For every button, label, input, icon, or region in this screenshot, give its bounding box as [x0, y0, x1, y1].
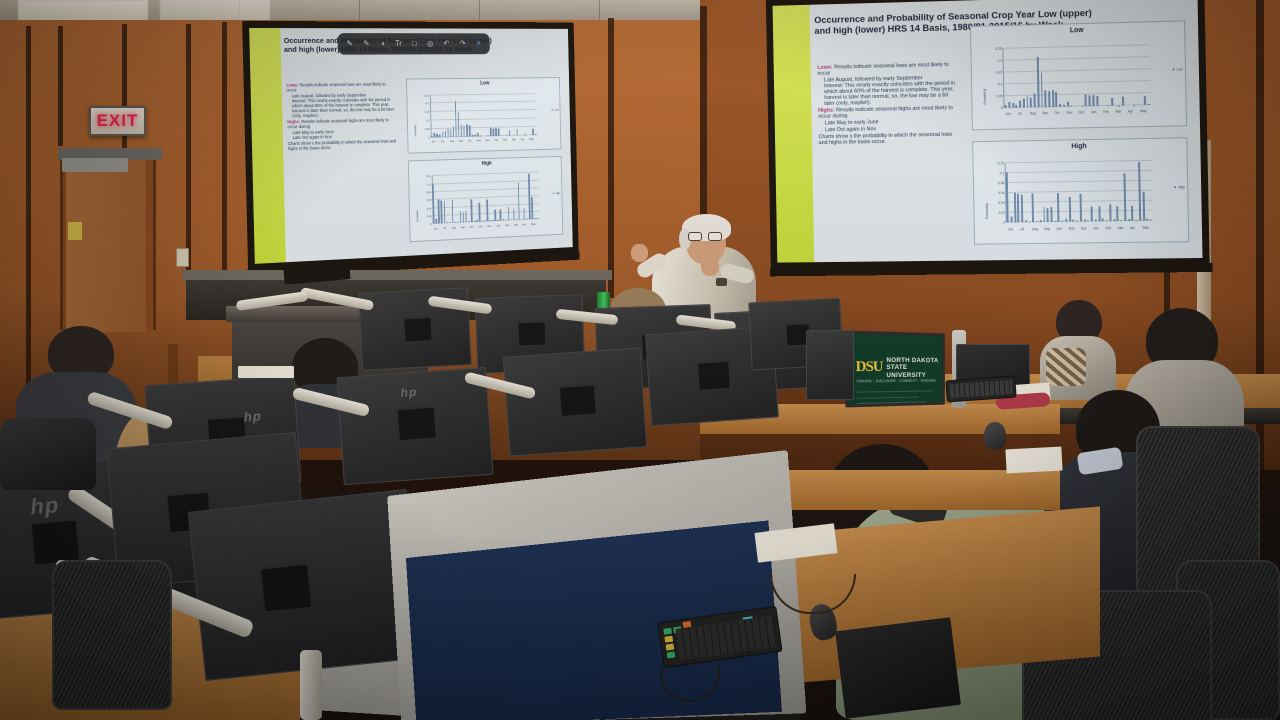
chart-x-tick-label: Apr — [1130, 225, 1135, 229]
chart-x-tick-label: Feb — [1105, 226, 1111, 230]
chart-bar — [476, 220, 477, 222]
door-braille-plate — [68, 222, 82, 240]
chart-y-tick-label: 0.05 — [996, 94, 1002, 98]
chart-bar — [431, 135, 432, 137]
chart-x-tick-label: Sep — [461, 226, 465, 229]
chart-bar — [1148, 104, 1150, 105]
glasses-icon — [688, 232, 702, 241]
chart-x-tick-label: Aug — [450, 140, 454, 143]
chart-y-tick-label: 0.02 — [427, 215, 432, 218]
chart-bar — [1025, 221, 1027, 223]
chart-bar — [1062, 221, 1064, 222]
chart-low: Low Probability Low 00.050.10.150.20.25 … — [406, 77, 561, 153]
slide-accent-band — [773, 5, 815, 263]
chart-y-tick-label: 0 — [1001, 106, 1003, 110]
bullet-text: Late Oct again in Nov — [825, 126, 876, 133]
chart-bar — [1092, 95, 1094, 106]
chart-bar — [492, 221, 493, 222]
chart-bar — [1050, 208, 1052, 223]
chart-high-title: High — [973, 141, 1186, 152]
chart-bar — [453, 127, 455, 137]
chart-bar — [482, 220, 483, 222]
chart-bar — [497, 220, 498, 222]
chart-x-tick-label: Nov — [479, 225, 483, 228]
chart-bar — [1063, 105, 1065, 107]
chart-y-tick-label: 0.15 — [996, 71, 1002, 75]
chart-bar — [500, 209, 502, 221]
chart-bar — [537, 219, 538, 220]
chart-bar — [468, 222, 469, 223]
chart-bar — [509, 130, 510, 136]
chart-bar — [1133, 105, 1135, 106]
chart-bar — [1106, 221, 1108, 222]
chart-y-tick-label: 0.04 — [427, 207, 432, 210]
bullet-text: Charts show s the probability in which t… — [288, 139, 396, 152]
chart-bar — [1122, 97, 1124, 106]
slide-right: Occurrence and Probability of Seasonal C… — [773, 0, 1203, 263]
chart-y-tick-label: 0.08 — [998, 181, 1005, 185]
ndsu-wordmark: NORTH DAKOTA STATE UNIVERSITY — [886, 357, 942, 379]
chart-bar — [472, 134, 473, 136]
chart-bar — [1040, 72, 1043, 107]
chart-x-tick-label: Dec — [1079, 111, 1085, 115]
chart-gridline — [1004, 80, 1151, 84]
chart-bar — [526, 219, 527, 220]
chart-x-tick-label: Jun — [434, 227, 438, 230]
chart-x-tick-label: Aug — [1032, 227, 1038, 231]
chart-bar — [466, 125, 468, 137]
chart-bar — [1012, 103, 1014, 108]
chart-bar — [516, 129, 517, 135]
chart-bar — [506, 135, 507, 136]
chart-bar — [1030, 98, 1032, 108]
chart-bar — [503, 219, 504, 221]
chart-x-tick-label: Sep — [1044, 227, 1050, 231]
chart-y-tick-label: 0.1 — [998, 83, 1003, 87]
presenter-hand-left — [631, 244, 648, 262]
chart-bar — [1010, 217, 1012, 223]
chart-gridline — [431, 172, 537, 177]
chart-bar — [439, 135, 440, 137]
chart-x-tick-label: Dec — [486, 139, 490, 142]
chart-bar — [1043, 208, 1045, 223]
mouse-right[interactable] — [984, 422, 1006, 450]
pen-tool-icon[interactable]: ✎ — [346, 40, 352, 48]
monitor-post — [300, 650, 322, 720]
chart-bar — [474, 135, 475, 136]
chart-y-tick-label: 0.1 — [428, 183, 431, 186]
chart-bar — [1076, 221, 1078, 222]
chart-high-title: High — [409, 159, 561, 169]
chart-y-tick-label: 0.02 — [999, 211, 1006, 215]
ndsu-line1: NORTH DAKOTA — [886, 357, 938, 364]
chart-bar — [490, 220, 491, 222]
chart-bar — [1006, 173, 1009, 223]
chart-x-tick-label: Feb — [503, 138, 507, 141]
chart-gridline — [430, 101, 536, 104]
ndsu-line2: STATE UNIVERSITY — [886, 364, 926, 378]
chart-x-tick-label: Aug — [1030, 112, 1036, 116]
chart-x-tick-label: Nov — [1066, 111, 1072, 115]
chart-bar — [458, 112, 460, 137]
undo-tool-icon[interactable]: ↶ — [443, 40, 449, 48]
chart-x-tick-label: Jan — [496, 224, 500, 227]
chart-bar — [1146, 219, 1148, 221]
chart-y-tick-label: 0.06 — [998, 191, 1005, 195]
chart-bar — [1070, 105, 1072, 106]
chart-bar — [1113, 220, 1115, 222]
chart-x-tick-label: Jul — [1018, 112, 1022, 116]
slide-bullets: Lows: Results indicate seasonal lows are… — [286, 81, 396, 152]
chart-x-tick-label: Jun — [1006, 112, 1011, 116]
chart-bar — [1008, 102, 1010, 109]
chart-x-tick-label: May — [1142, 225, 1148, 229]
chart-bar — [484, 221, 485, 222]
chart-x-tick-label: Dec — [488, 225, 492, 228]
notepad-right — [1005, 447, 1062, 474]
chart-bar — [524, 208, 526, 220]
chart-x-tick-label: Mar — [512, 138, 516, 141]
chart-y-tick-label: 0 — [1003, 221, 1005, 225]
chart-high: High Probability High 00.020.040.060.080… — [972, 137, 1189, 245]
chart-bar — [1014, 193, 1016, 223]
bullet-text: Charts show s the probability in which t… — [819, 132, 953, 146]
chart-legend: High — [1174, 185, 1185, 189]
chart-bar — [1017, 194, 1019, 223]
chart-x-tick-label: Aug — [452, 226, 456, 229]
chart-x-tick-label: Jan — [1093, 226, 1098, 230]
chart-bar — [470, 199, 472, 222]
office-chair-left — [0, 418, 96, 490]
chart-bar — [465, 211, 467, 223]
chart-bar — [1047, 209, 1049, 223]
door[interactable] — [66, 160, 146, 332]
monitor-right-foreground2 — [806, 330, 854, 400]
chart-bar — [1032, 194, 1034, 223]
chart-x-tick-label: Nov — [477, 139, 481, 142]
chart-bar — [505, 220, 506, 221]
chart-bar — [1144, 96, 1146, 106]
chart-bar — [1111, 98, 1113, 106]
chart-bar — [1052, 91, 1054, 108]
chart-bar — [1029, 222, 1031, 223]
chart-bar — [445, 131, 447, 137]
chart-bar — [1121, 220, 1123, 221]
chart-gridline — [1005, 160, 1152, 164]
chart-bar — [447, 129, 449, 137]
chart-x-tick-label: Jun — [432, 140, 436, 143]
shape-tool-icon[interactable]: □ — [412, 40, 417, 48]
chart-bar — [480, 135, 481, 136]
chart-y-tick-label: 0.15 — [425, 111, 430, 114]
chart-gridline — [1006, 190, 1153, 193]
chart-bar — [450, 130, 452, 137]
redo-tool-icon[interactable]: ↷ — [460, 40, 466, 48]
chart-legend: High — [553, 192, 561, 195]
chart-bar — [1118, 105, 1120, 106]
chart-bar — [490, 128, 492, 136]
chart-bar — [1079, 194, 1081, 222]
chart-x-tick-label: Nov — [1069, 226, 1075, 230]
chart-bar — [1055, 92, 1057, 108]
chart-bar — [460, 211, 462, 223]
chart-bar — [495, 128, 497, 136]
chart-bar — [1048, 92, 1050, 108]
chart-bar — [463, 212, 465, 223]
chart-x-tick-label: Feb — [505, 224, 509, 227]
student-back-right-pattern — [1046, 348, 1086, 386]
chart-bar — [443, 201, 445, 223]
chart-bar — [1057, 194, 1059, 223]
chart-x-tick-label: Jul — [443, 227, 446, 230]
chart-gridline — [430, 93, 536, 95]
presenter-watch — [716, 278, 727, 286]
chart-bar — [436, 133, 437, 137]
chart-bar — [498, 129, 500, 136]
chart-x-tick-label: Apr — [523, 223, 527, 226]
notebook-foreground — [835, 617, 961, 718]
chart-bar — [442, 132, 444, 137]
chart-x-tick-label: Jul — [1020, 227, 1024, 231]
chart-bar — [474, 221, 475, 222]
chart-bar — [508, 207, 510, 220]
chart-x-tick-label: Oct — [470, 225, 474, 228]
chart-bar — [438, 200, 440, 224]
office-chair-left-2 — [52, 560, 172, 710]
chart-x-tick-label: Feb — [1103, 110, 1109, 114]
chart-bar — [461, 125, 463, 137]
chart-y-tick-label: 0.06 — [427, 199, 432, 202]
monitor-row2-right — [503, 347, 648, 456]
chart-bar — [455, 222, 456, 223]
chart-x-tick-label: Jan — [1091, 111, 1096, 115]
chart-x-tick-label: Oct — [1056, 226, 1061, 230]
bullet-text: Interest: This nearly exactly coincides … — [824, 81, 955, 107]
chart-bar — [535, 134, 536, 135]
chart-bar — [434, 133, 436, 138]
chart-bar — [1021, 195, 1023, 223]
chart-gridline — [430, 109, 536, 112]
chart-bar — [1095, 220, 1097, 222]
chart-bar — [1044, 90, 1046, 107]
monitor-row2-center: hp — [336, 367, 493, 485]
classroom-photo: EXIT Occurrence and Probability of Seaso… — [0, 0, 1280, 720]
chart-bar — [1117, 207, 1119, 222]
chart-bar — [1142, 192, 1144, 221]
exit-sign: EXIT — [89, 106, 146, 136]
chart-bar — [1084, 220, 1086, 222]
chart-gridline — [1005, 170, 1152, 173]
chart-y-tick-label: 0.25 — [995, 47, 1001, 51]
chart-bar — [1091, 207, 1093, 222]
chart-bar — [1015, 105, 1017, 108]
chart-gridline — [1005, 180, 1152, 183]
chart-bar — [1131, 206, 1133, 221]
chart-bar — [1150, 220, 1152, 221]
chart-bar — [1040, 221, 1042, 223]
chart-legend: Low — [551, 109, 558, 112]
chart-x-tick-label: Jan — [494, 139, 498, 142]
slide-left: Occurrence and Probability of Seasonal C… — [249, 28, 573, 264]
chart-x-tick-label: May — [529, 138, 533, 141]
glasses-icon — [708, 232, 722, 241]
chart-bar — [1128, 219, 1130, 221]
chart-y-tick-label: 0 — [428, 136, 429, 139]
chart-bar — [463, 125, 465, 136]
chart-x-tick-label: Mar — [1116, 110, 1122, 114]
chart-y-tick-label: 0.05 — [425, 128, 430, 131]
chart-bar — [486, 200, 488, 222]
chart-high: High Probability High 00.020.040.060.080… — [408, 156, 563, 242]
chart-low-title: Low — [971, 25, 1184, 37]
chart-bar — [1135, 220, 1137, 221]
chart-bar — [488, 135, 489, 136]
chart-bar — [469, 126, 471, 137]
chart-low-title: Low — [407, 80, 559, 87]
chart-legend: Low — [1172, 67, 1182, 71]
chart-x-tick-label: Oct — [468, 139, 472, 142]
chart-gridline — [432, 180, 538, 185]
chart-bar — [521, 218, 522, 220]
chart-gridline — [432, 187, 538, 192]
slide-accent-band — [249, 28, 285, 264]
chart-x-tick-label: Apr — [521, 138, 525, 141]
close-tool-icon[interactable]: ✕ — [476, 40, 482, 48]
chart-gridline — [432, 195, 538, 200]
papers-left — [238, 366, 294, 378]
chart-y-tick-label: 0.2 — [426, 103, 429, 106]
chart-bar — [1085, 95, 1087, 107]
chart-x-tick-label: Sep — [1042, 112, 1048, 116]
chart-bar — [495, 209, 497, 221]
spotlight-tool-icon[interactable]: ◎ — [427, 40, 433, 48]
bullet-text: Interest: This nearly exactly coincides … — [292, 97, 394, 118]
chart-bar — [1036, 222, 1038, 223]
chart-y-tick-label: 0.04 — [998, 201, 1005, 205]
door-closer — [62, 158, 128, 172]
slide-bullets: Lows: Results indicate seasonal lows are… — [817, 61, 957, 147]
text-tool-icon[interactable]: Tr — [395, 40, 402, 48]
chart-bar — [441, 201, 443, 224]
chart-bar — [1019, 101, 1021, 108]
chart-y-tick-label: 0.25 — [424, 94, 429, 97]
chart-y-tick-label: 0.2 — [997, 59, 1002, 63]
chart-x-tick-label: Jun — [1008, 227, 1013, 231]
chart-low: Low Probability Low 00.050.10.150.20.25 … — [970, 21, 1187, 131]
chart-x-tick-label: Sep — [459, 139, 463, 142]
chart-bar — [531, 197, 533, 220]
chart-y-tick-label: 0.12 — [998, 162, 1005, 166]
ndsu-abbrev: DSU — [856, 359, 883, 377]
chart-x-tick-label: Apr — [1128, 110, 1133, 114]
ndsu-tagline: CREATE · DISCOVER · CONNECT · ENGAGE — [857, 379, 936, 384]
chart-x-tick-label: May — [1140, 110, 1146, 114]
chart-bar — [1026, 96, 1028, 108]
ceiling-light — [18, 0, 148, 22]
ndsu-monitor[interactable]: DSU NORTH DAKOTA STATE UNIVERSITY CREATE… — [845, 331, 945, 408]
chart-gridline — [1003, 44, 1150, 49]
chart-bar — [1096, 96, 1098, 106]
chart-gridline — [430, 117, 536, 120]
chart-bar — [1102, 219, 1104, 222]
chart-gridline — [1003, 68, 1150, 72]
bullet-text: Results indicate seasonal lows are most … — [286, 82, 385, 93]
chart-bar — [1054, 221, 1056, 222]
chart-bar — [1098, 207, 1100, 222]
projection-screen-right: Occurrence and Probability of Seasonal C… — [773, 0, 1203, 263]
bullet-text: Late May to early June — [825, 120, 879, 127]
front-desk-surface — [182, 270, 612, 280]
chart-bar — [1065, 219, 1067, 222]
chart-bar — [516, 219, 517, 220]
chart-bar — [1087, 221, 1089, 222]
chart-bar — [511, 219, 512, 221]
wall-outlet — [176, 248, 189, 267]
projection-screen-left: Occurrence and Probability of Seasonal C… — [249, 28, 573, 264]
chart-bar — [532, 128, 533, 135]
chart-bar — [449, 222, 450, 223]
chart-bar — [1107, 105, 1109, 106]
chart-x-tick-label: Oct — [1054, 111, 1059, 115]
chart-x-tick-label: Mar — [1118, 226, 1124, 230]
chart-bar — [447, 222, 448, 224]
annotation-toolbar[interactable]: ✎ ✎ ◑ Tr □ ◎ ↶ ↷ ✕ — [337, 33, 490, 55]
chart-x-tick-label: Mar — [514, 223, 518, 226]
chart-bar — [1067, 102, 1069, 107]
chart-bar — [1089, 96, 1091, 107]
chart-gridline — [1003, 56, 1150, 60]
highlighter-tool-icon[interactable]: ✎ — [363, 40, 369, 48]
chart-bar — [452, 200, 454, 223]
chart-bar — [534, 218, 535, 220]
chart-y-tick-label: 0 — [430, 223, 431, 226]
chart-y-tick-label: 0.08 — [426, 191, 431, 194]
chart-y-tick-label: 0.1 — [1000, 172, 1005, 176]
chart-y-tick-label: 0.1 — [426, 120, 429, 123]
chart-bar — [1005, 105, 1007, 108]
chart-bar — [457, 221, 458, 223]
chart-bar — [477, 133, 478, 136]
chart-bar — [432, 184, 434, 225]
chart-x-tick-label: Jul — [441, 140, 444, 143]
chart-bar — [1109, 205, 1111, 222]
chart-bar — [493, 128, 495, 136]
exit-sign-label: EXIT — [97, 111, 139, 131]
eraser-tool-icon[interactable]: ◑ — [380, 40, 385, 48]
chart-bar — [513, 209, 515, 221]
chart-x-tick-label: Dec — [1081, 226, 1087, 230]
chart-bar — [1081, 106, 1083, 107]
chart-bar — [1023, 99, 1025, 108]
chart-bar — [1059, 104, 1061, 107]
chart-y-tick-label: 0.12 — [426, 176, 431, 179]
chart-bar — [1073, 220, 1075, 222]
chart-bar — [436, 219, 438, 224]
chart-bar — [1034, 93, 1036, 107]
chart-x-tick-label: May — [531, 223, 535, 226]
